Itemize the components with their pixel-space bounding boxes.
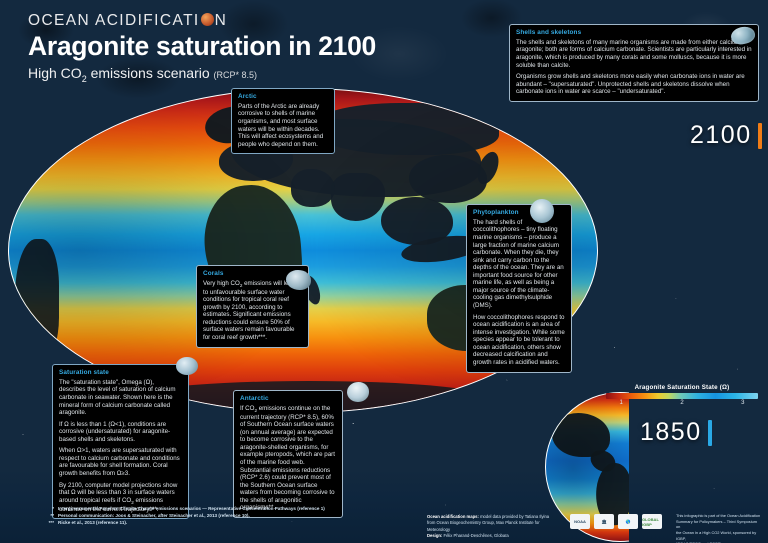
copyright-line: the Ocean in a High CO2 World, sponsored…: [676, 530, 762, 541]
landmass-china: [409, 155, 487, 203]
coral-illustration-icon: [286, 270, 311, 290]
callout-phytoplankton-body2: How coccolithophores respond to ocean ac…: [473, 314, 565, 367]
footnote-text: Intergovernmental Panel on Climate Chang…: [58, 506, 325, 513]
footnote-marker: **: [38, 513, 54, 520]
copyright-block: This infographic is part of the Ocean Ac…: [676, 513, 762, 543]
credits-block: Ocean acidification maps: model data pro…: [427, 514, 557, 539]
copyright-line: This infographic is part of the Ocean Ac…: [676, 513, 762, 519]
callout-antarctic-body: If CO2 emissions continue on the current…: [240, 405, 336, 512]
kicker-before: OCEAN ACIDIFICATI: [28, 12, 200, 29]
kicker-after: N: [215, 12, 228, 29]
callout-arctic: Arctic Parts of the Arctic are already c…: [231, 88, 335, 154]
callout-shells-body1: The shells and skeletons of many marine …: [516, 39, 752, 69]
callout-arctic-body: Parts of the Arctic are already corrosiv…: [238, 103, 328, 148]
copyright-line: Summary for Policymakers – Third Symposi…: [676, 519, 762, 530]
year-2100-text: 2100: [690, 121, 752, 150]
kicker-text: OCEAN ACIDIFICATIN: [28, 12, 376, 30]
pteropod-illustration-icon: [347, 382, 369, 402]
callout-shells-and-skeletons: Shells and skeletons The shells and skel…: [509, 24, 759, 102]
callout-saturation-body1: The "saturation state", Omega (Ω), descr…: [59, 379, 182, 417]
year-1850-text: 1850: [640, 418, 702, 447]
plankton-illustration-icon: [176, 357, 198, 375]
legend-title: Aragonite Saturation State (Ω): [606, 384, 758, 391]
footnote-marker: *: [38, 506, 54, 513]
legend-tick-1: 1: [620, 400, 623, 406]
subtitle-rest: emissions scenario: [87, 65, 210, 81]
landmass-south-america-edge: [15, 239, 59, 359]
year-label-2100: 2100: [690, 121, 762, 150]
callout-saturation-body3: When Ω>1, waters are supersaturated with…: [59, 447, 182, 477]
ocean-logo[interactable]: 🌎: [618, 514, 638, 529]
noaa-logo[interactable]: NOAA: [570, 514, 590, 529]
footnote-row: *** Ricke et al., 2013 (reference 11).: [38, 520, 368, 527]
footnote-text: Personal communication: Joos & Steinache…: [58, 513, 250, 520]
year-2100-bar: [758, 123, 762, 149]
year-label-1850: 1850: [640, 418, 712, 447]
callout-saturation-title: Saturation state: [59, 369, 182, 377]
credits-design-text: Félix Pharand-Deschênes, Globaïa: [442, 533, 508, 538]
legend-tick-3: 3: [741, 400, 744, 406]
callout-saturation-body2: If Ω is less than 1 (Ω<1), conditions ar…: [59, 421, 182, 444]
credits-design-line: Design: Félix Pharand-Deschênes, Globaïa: [427, 533, 557, 539]
year-1850-bar: [708, 420, 712, 446]
footnotes-block: * Intergovernmental Panel on Climate Cha…: [38, 506, 368, 527]
callout-antarctic-body-b: emissions continue on the current trajec…: [240, 405, 335, 512]
credits-maps-line: Ocean acidification maps: model data pro…: [427, 514, 557, 533]
callout-antarctic: Antarctic If CO2 emissions continue on t…: [233, 390, 343, 518]
callout-shells-title: Shells and skeletons: [516, 29, 752, 37]
credits-design-label: Design:: [427, 533, 442, 538]
callout-phytoplankton: Phytoplankton The hard shells of coccoli…: [466, 204, 572, 373]
poster-header: OCEAN ACIDIFICATIN Aragonite saturation …: [28, 12, 376, 83]
legend-tick-2: 2: [680, 400, 683, 406]
callout-corals-body-b: emissions will lead to unfavourable surf…: [203, 280, 295, 341]
callout-saturation-state: Saturation state The "saturation state",…: [52, 364, 189, 519]
subtitle-main: High CO: [28, 65, 82, 81]
footnote-row: * Intergovernmental Panel on Climate Cha…: [38, 506, 368, 513]
page-subtitle: High CO2 emissions scenario (RCP* 8.5): [28, 65, 376, 84]
landmass-india: [331, 173, 385, 221]
coccolithophore-illustration-icon: [530, 199, 554, 223]
callout-antarctic-title: Antarctic: [240, 395, 336, 403]
footnote-row: ** Personal communication: Joos & Steina…: [38, 513, 368, 520]
callout-antarctic-body-a: If CO: [240, 405, 254, 412]
institution-logo[interactable]: 🏛: [594, 514, 614, 529]
coral-dot-icon: [201, 13, 214, 26]
callout-corals-body-a: Very high CO: [203, 280, 240, 287]
callout-phytoplankton-body1: The hard shells of coccolithophores – ti…: [473, 219, 565, 310]
footnote-text: Ricke et al., 2013 (reference 11).: [58, 520, 127, 527]
page-title: Aragonite saturation in 2100: [28, 32, 376, 62]
callout-shells-body2: Organisms grow shells and skeletons more…: [516, 73, 752, 96]
subtitle-rcp-note: (RCP* 8.5): [214, 70, 258, 80]
callout-arctic-title: Arctic: [238, 93, 328, 101]
global-ocean-logo[interactable]: GLOBAL IGBP: [642, 514, 662, 529]
legend-tick-labels: 1 2 3: [606, 400, 758, 409]
footnote-marker: ***: [38, 520, 54, 527]
colorbar-legend: Aragonite Saturation State (Ω) 1 2 3: [606, 384, 758, 409]
infographic-poster: OCEAN ACIDIFICATIN Aragonite saturation …: [0, 0, 768, 543]
callout-corals-body: Very high CO2 emissions will lead to unf…: [203, 280, 302, 342]
logo-strip: NOAA 🏛 🌎 GLOBAL IGBP: [570, 514, 662, 529]
credits-maps-label: Ocean acidification maps:: [427, 514, 479, 519]
legend-colorbar: [606, 393, 758, 399]
landmass-arabia: [291, 169, 335, 207]
